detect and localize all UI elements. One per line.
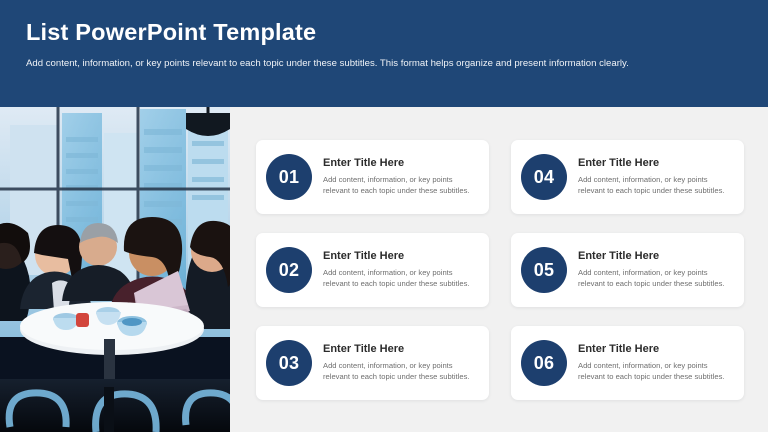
business-meeting-photo [0, 107, 230, 432]
list-item[interactable]: 03 Enter Title Here Add content, informa… [256, 326, 489, 400]
card-body: Add content, information, or key points … [323, 360, 479, 383]
list-item[interactable]: 04 Enter Title Here Add content, informa… [511, 140, 744, 214]
list-item[interactable]: 06 Enter Title Here Add content, informa… [511, 326, 744, 400]
card-title: Enter Title Here [578, 343, 734, 355]
page-subtitle: Add content, information, or key points … [26, 57, 726, 71]
step-number-badge: 05 [521, 247, 567, 293]
page-title: List PowerPoint Template [26, 20, 742, 46]
cards-region: 01 Enter Title Here Add content, informa… [230, 107, 768, 432]
card-body: Add content, information, or key points … [578, 174, 734, 197]
cards-row-1: 01 Enter Title Here Add content, informa… [256, 140, 745, 214]
step-number-badge: 02 [266, 247, 312, 293]
step-number-badge: 06 [521, 340, 567, 386]
photo-illustration [0, 107, 230, 432]
step-number-badge: 01 [266, 154, 312, 200]
cards-grid: 01 Enter Title Here Add content, informa… [256, 140, 745, 400]
card-title: Enter Title Here [578, 250, 734, 262]
card-title: Enter Title Here [323, 343, 479, 355]
card-body: Add content, information, or key points … [323, 174, 479, 197]
card-text-block: Enter Title Here Add content, informatio… [578, 157, 734, 196]
card-text-block: Enter Title Here Add content, informatio… [323, 343, 479, 382]
card-title: Enter Title Here [578, 157, 734, 169]
card-text-block: Enter Title Here Add content, informatio… [578, 250, 734, 289]
cards-row-2: 02 Enter Title Here Add content, informa… [256, 233, 745, 307]
slide-header: List PowerPoint Template Add content, in… [0, 0, 768, 107]
step-number-badge: 03 [266, 340, 312, 386]
slide-canvas: List PowerPoint Template Add content, in… [0, 0, 768, 432]
card-body: Add content, information, or key points … [578, 267, 734, 290]
card-text-block: Enter Title Here Add content, informatio… [578, 343, 734, 382]
step-number-badge: 04 [521, 154, 567, 200]
card-title: Enter Title Here [323, 157, 479, 169]
card-body: Add content, information, or key points … [578, 360, 734, 383]
card-title: Enter Title Here [323, 250, 479, 262]
cards-row-3: 03 Enter Title Here Add content, informa… [256, 326, 745, 400]
card-text-block: Enter Title Here Add content, informatio… [323, 157, 479, 196]
list-item[interactable]: 05 Enter Title Here Add content, informa… [511, 233, 744, 307]
list-item[interactable]: 01 Enter Title Here Add content, informa… [256, 140, 489, 214]
card-text-block: Enter Title Here Add content, informatio… [323, 250, 479, 289]
list-item[interactable]: 02 Enter Title Here Add content, informa… [256, 233, 489, 307]
card-body: Add content, information, or key points … [323, 267, 479, 290]
